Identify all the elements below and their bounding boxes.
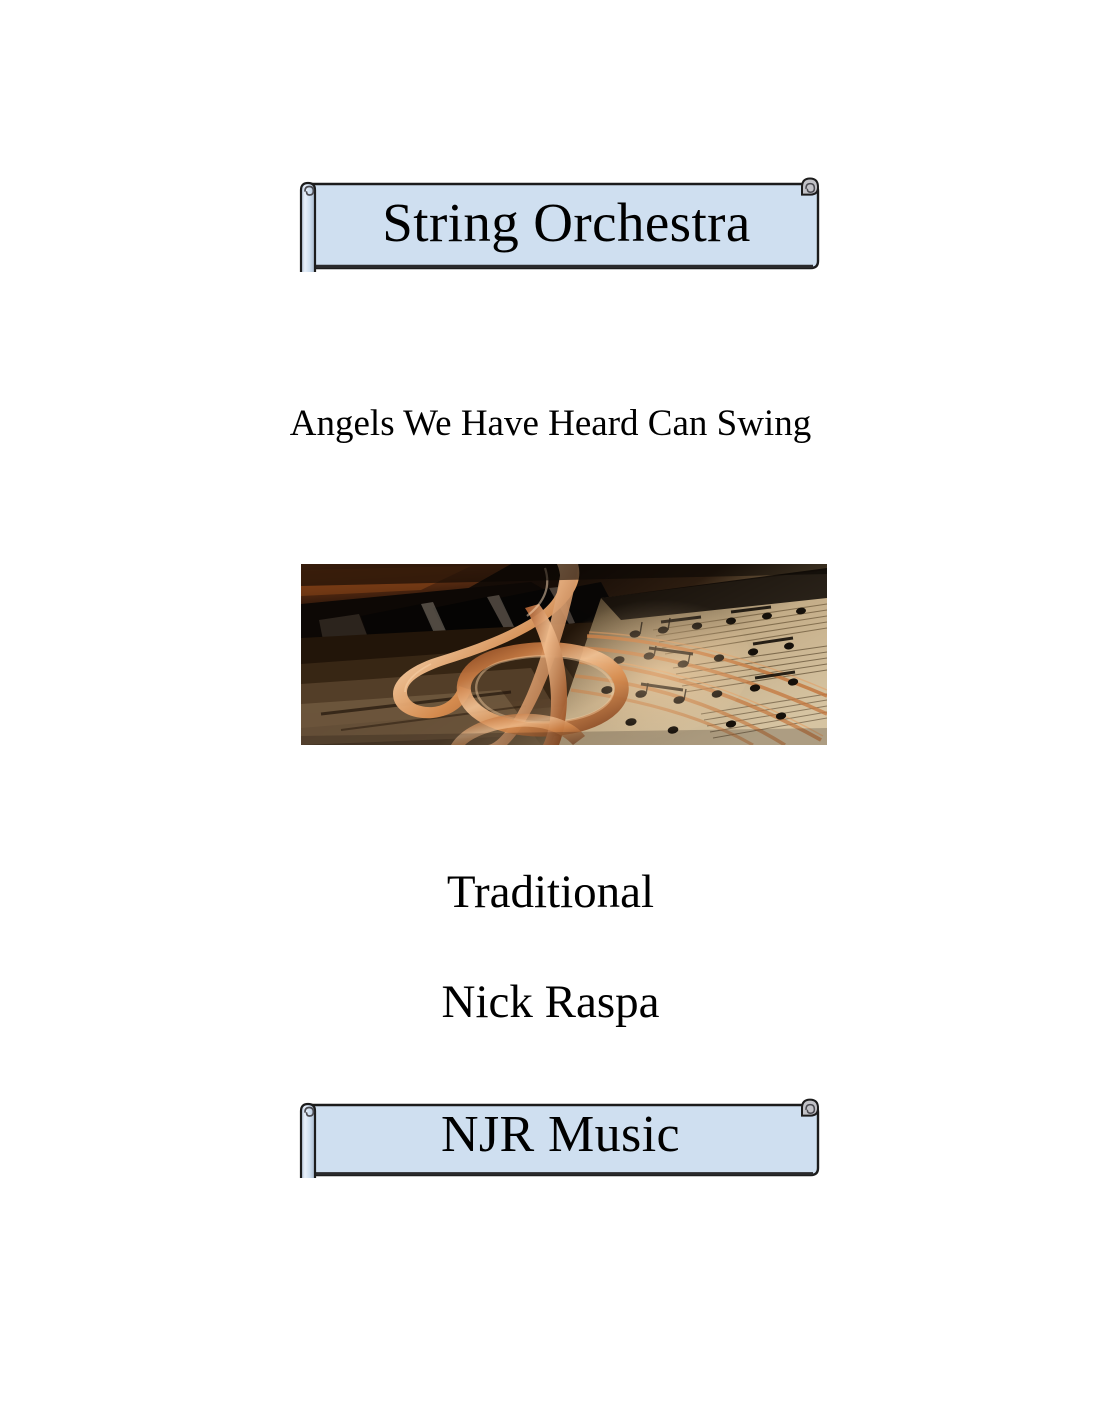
composer-name: Traditional <box>0 862 1101 922</box>
treble-clef-piano-photo <box>301 564 827 745</box>
publisher-banner: NJR Music <box>297 1098 820 1178</box>
cover-page: String Orchestra Angels We Have Heard Ca… <box>0 0 1101 1425</box>
page-title: Angels We Have Heard Can Swing <box>0 400 1101 448</box>
cover-artwork <box>301 564 827 745</box>
publisher-banner-label: NJR Music <box>297 1104 820 1166</box>
arranger-name: Nick Raspa <box>0 972 1101 1032</box>
ensemble-banner: String Orchestra <box>297 176 820 272</box>
ensemble-banner-label: String Orchestra <box>297 190 820 256</box>
